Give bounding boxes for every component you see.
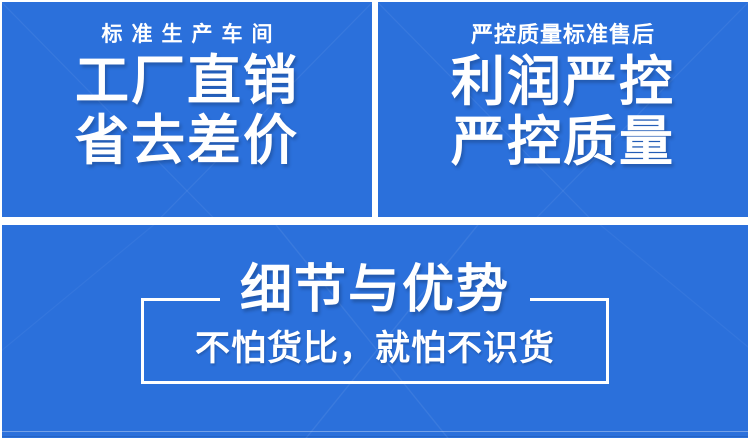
panel-headline-quality-control: 利润严控 严控质量: [451, 52, 675, 172]
edge-hairline-light: [2, 431, 748, 432]
bottom-panel-title: 细节与优势: [2, 261, 748, 319]
bottom-panel-subtitle: 不怕货比，就怕不识货: [2, 329, 748, 369]
panel-quality-control: 严控质量标准售后 利润严控 严控质量: [378, 2, 748, 217]
panel-kicker-quality-control: 严控质量标准售后: [471, 24, 655, 46]
edge-hairline-dark: [2, 436, 748, 437]
panel-factory-direct: 标准生产车间 工厂直销 省去差价: [2, 2, 372, 217]
panel-headline-line-2: 严控质量: [451, 112, 675, 172]
panel-headline-line-1: 工厂直销: [75, 51, 299, 111]
promo-banner: 标准生产车间 工厂直销 省去差价 严控质量标准售后 利润严控 严控质量: [0, 0, 750, 440]
bottom-panel-content: 细节与优势 不怕货比，就怕不识货: [2, 225, 748, 438]
top-panel-row: 标准生产车间 工厂直销 省去差价 严控质量标准售后 利润严控 严控质量: [2, 2, 748, 217]
panel-details-and-advantages: 细节与优势 不怕货比，就怕不识货: [2, 225, 748, 438]
panel-headline-factory-direct: 工厂直销 省去差价: [75, 51, 299, 171]
panel-headline-line-1: 利润严控: [451, 52, 675, 112]
panel-kicker-factory-direct: 标准生产车间: [93, 24, 282, 45]
panel-headline-line-2: 省去差价: [75, 111, 299, 171]
